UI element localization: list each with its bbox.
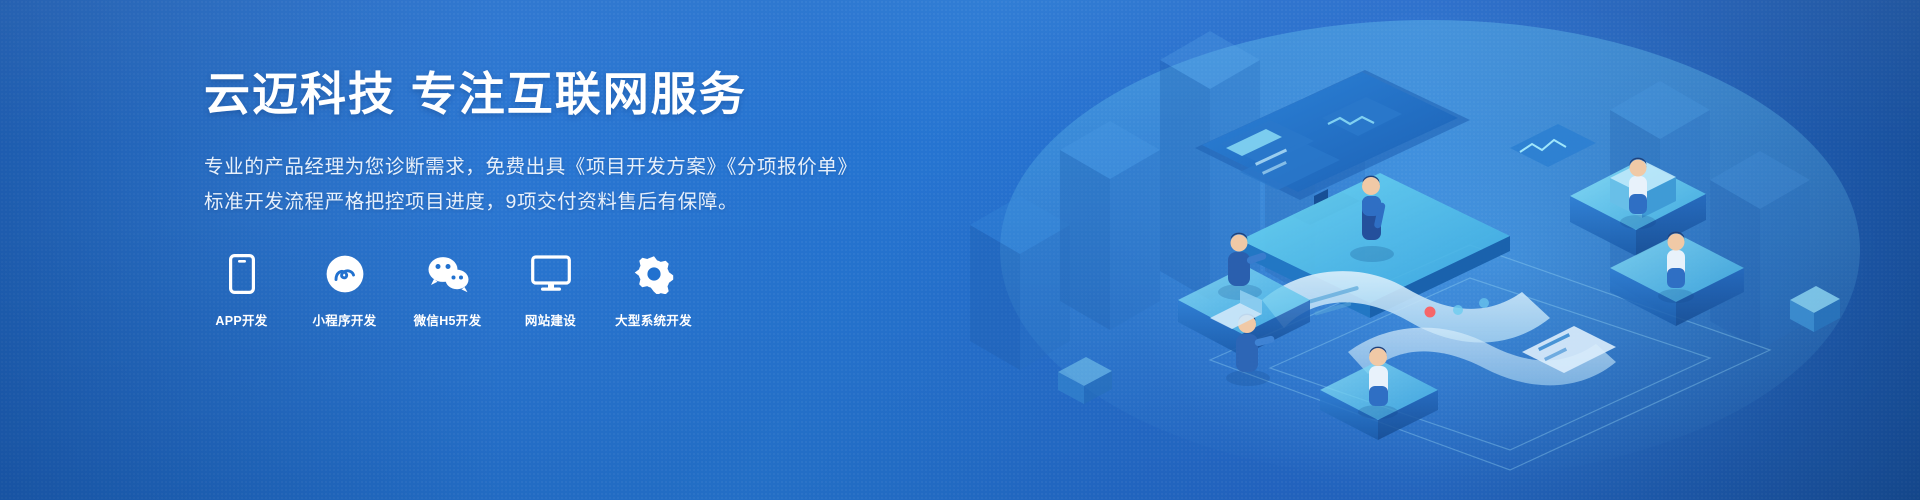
service-label: 微信H5开发 [414,310,482,329]
service-label: APP开发 [215,310,267,329]
page-title: 云迈科技 专注互联网服务 [204,66,964,124]
promo-banner: 云迈科技 专注互联网服务 专业的产品经理为您诊断需求，免费出具《项目开发方案》《… [0,0,1920,500]
service-item-mini-program[interactable]: 小程序开发 [307,252,382,329]
monitor-icon [531,252,571,296]
service-item-app[interactable]: APP开发 [204,252,279,329]
wechat-icon [426,252,470,296]
service-label: 大型系统开发 [615,310,692,329]
service-item-wechat-h5[interactable]: 微信H5开发 [410,252,485,329]
service-label: 小程序开发 [312,310,376,329]
mobile-phone-icon [229,252,255,296]
service-label: 网站建设 [525,310,576,329]
banner-subtitle: 专业的产品经理为您诊断需求，免费出具《项目开发方案》《分项报价单》 标准开发流程… [204,150,964,221]
service-item-website[interactable]: 网站建设 [513,252,588,329]
gear-icon [634,252,674,296]
mini-program-icon [325,252,365,296]
service-list: APP开发 小程序开发 [204,252,964,329]
banner-content: 云迈科技 专注互联网服务 专业的产品经理为您诊断需求，免费出具《项目开发方案》《… [204,66,964,329]
subtitle-line-1: 专业的产品经理为您诊断需求，免费出具《项目开发方案》《分项报价单》 [204,150,964,185]
service-item-large-system[interactable]: 大型系统开发 [616,252,691,329]
illustration-isometric-data-platform [910,0,1920,500]
subtitle-line-2: 标准开发流程严格把控项目进度，9项交付资料售后有保障。 [204,185,964,220]
